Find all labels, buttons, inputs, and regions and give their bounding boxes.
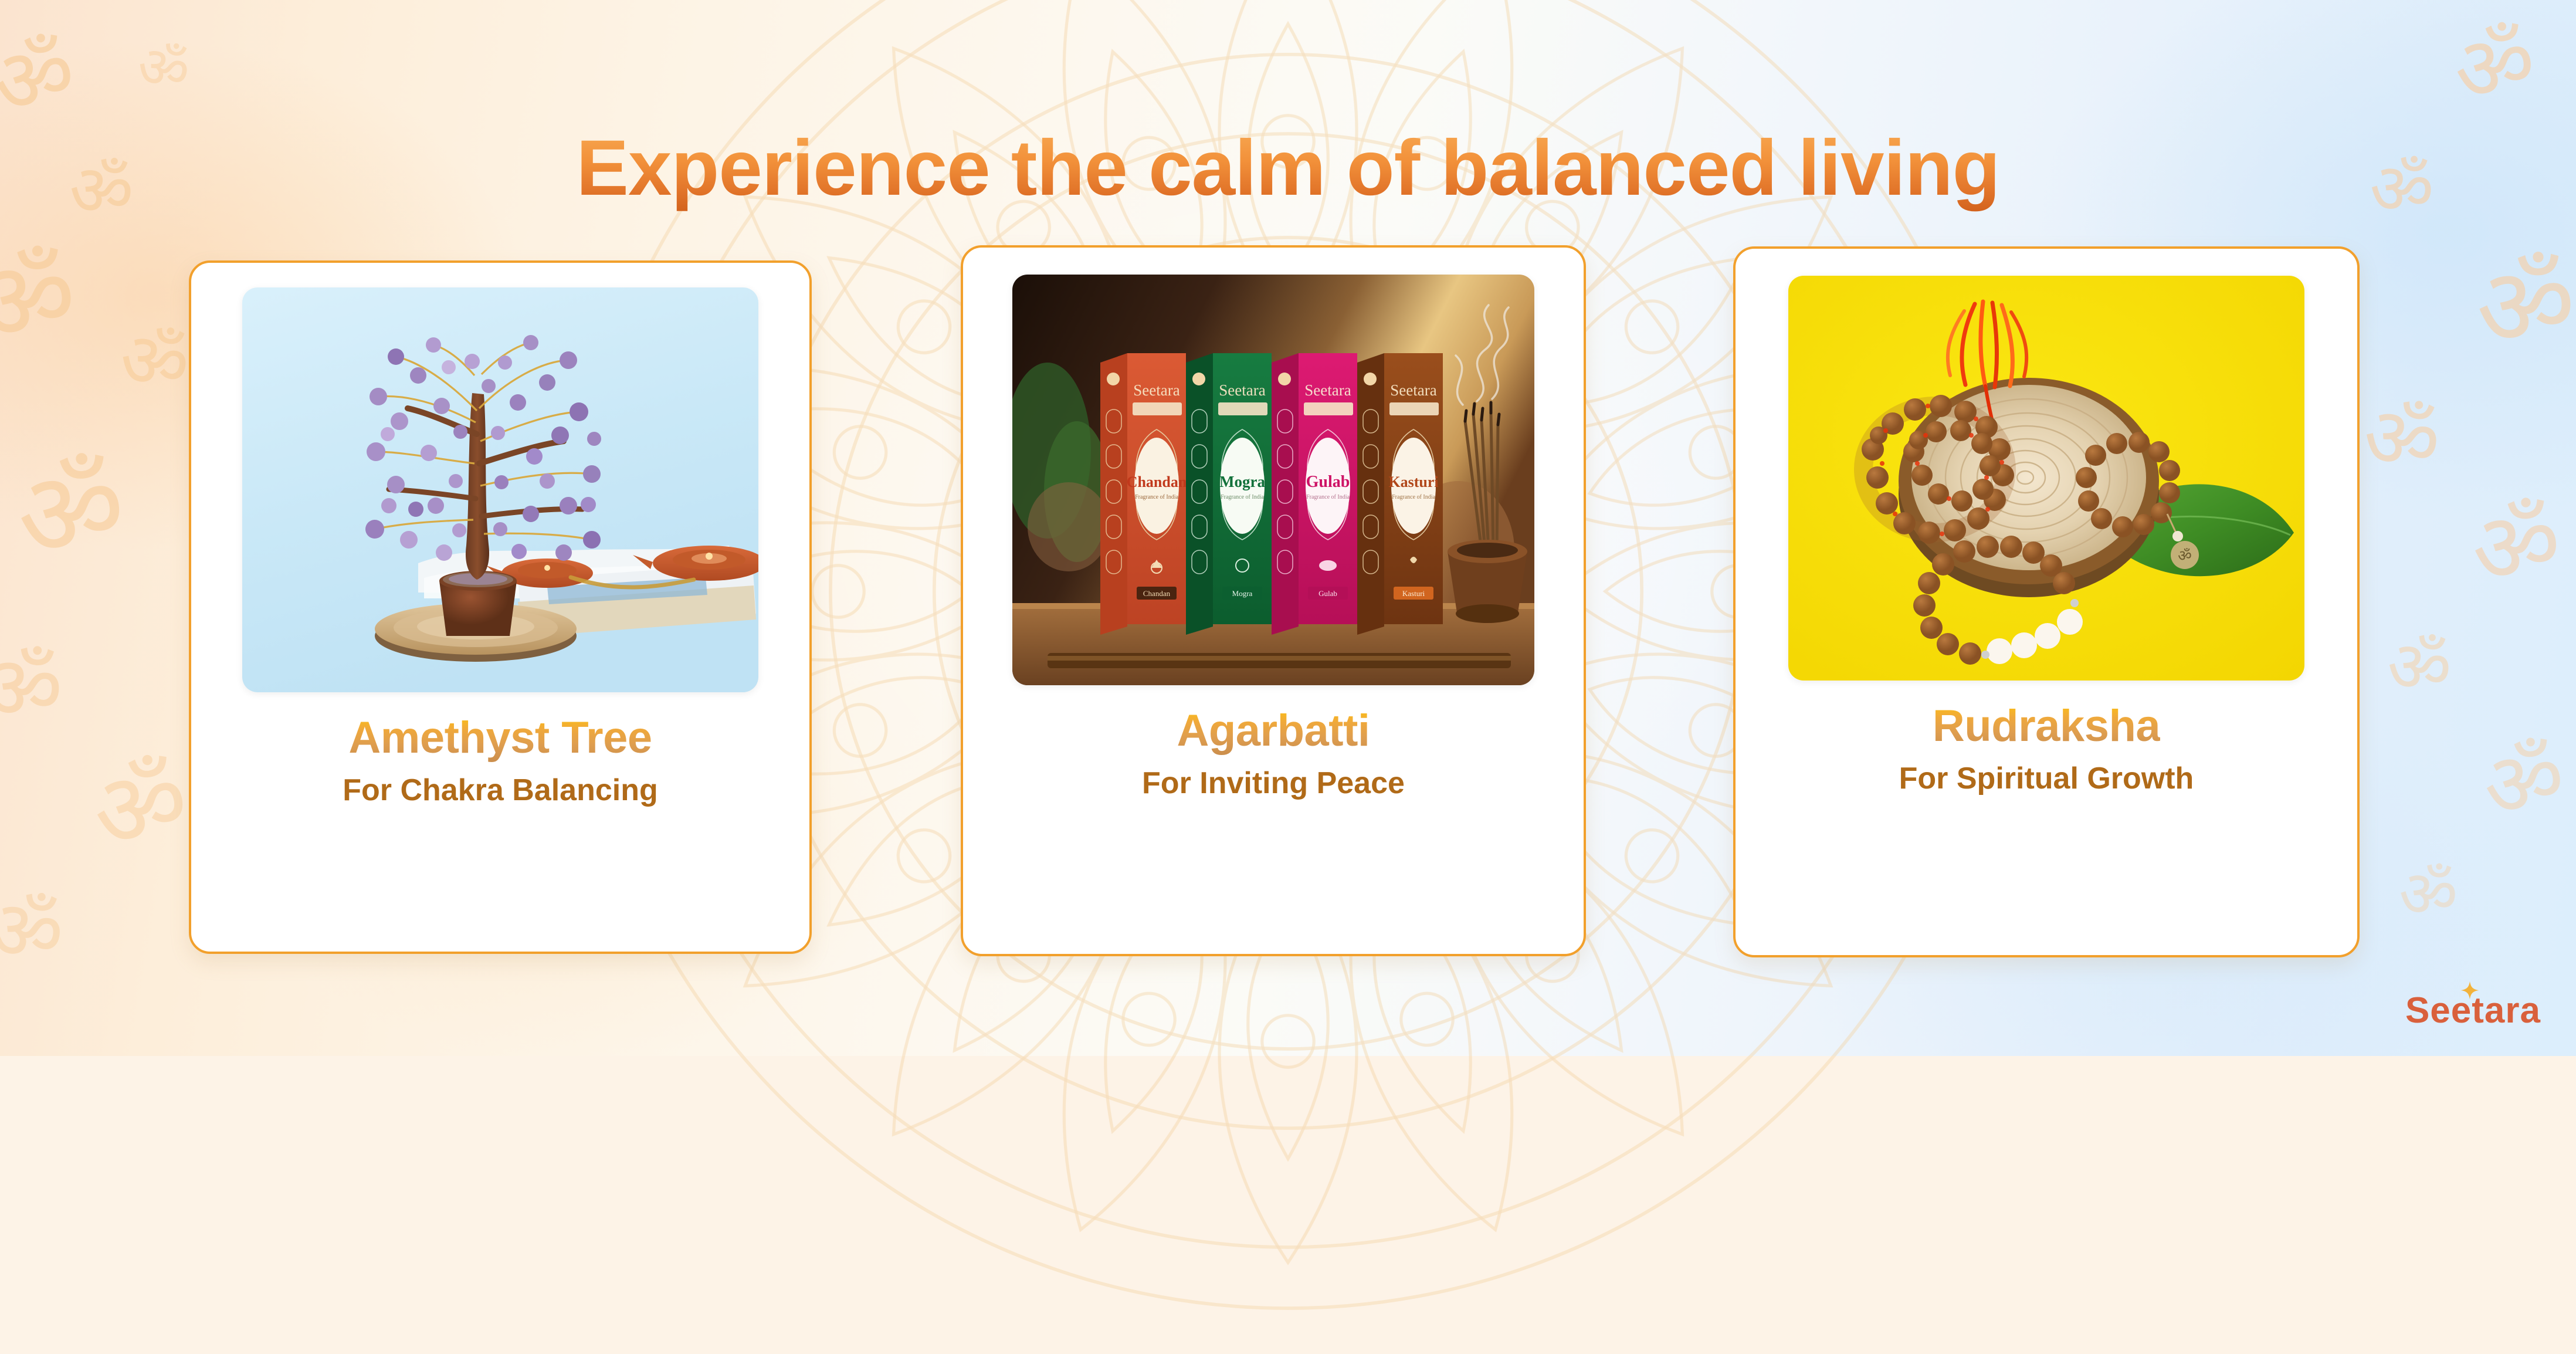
svg-text:Seetara: Seetara [1219,381,1265,399]
svg-text:Gulab: Gulab [1306,473,1350,491]
svg-text:Seetara: Seetara [1304,381,1351,399]
rudraksha-mala-photo: ॐ [1788,276,2304,681]
svg-text:Mogra: Mogra [1232,589,1253,598]
card-subtitle: For Inviting Peace [1142,767,1405,800]
product-card-amethyst-tree[interactable]: Amethyst Tree For Chakra Balancing [189,260,812,954]
card-subtitle: For Spiritual Growth [1899,762,2194,796]
card-title: Agarbatti [1177,708,1370,755]
svg-text:Chandan: Chandan [1143,589,1171,598]
product-card-list: Amethyst Tree For Chakra Balancing [0,0,2576,1056]
agarbatti-boxes-photo: Seetara Chandan Fragrance of India Chand… [1012,275,1534,685]
svg-text:Fragrance of India: Fragrance of India [1306,494,1350,500]
svg-text:Kasturi: Kasturi [1388,473,1438,490]
amethyst-tree-photo [242,287,758,692]
svg-text:Mogra: Mogra [1219,473,1265,490]
svg-text:Chandan: Chandan [1127,473,1187,490]
svg-text:ॐ: ॐ [2178,547,2192,565]
card-title: Amethyst Tree [348,715,652,762]
svg-text:Kasturi: Kasturi [1402,589,1425,598]
svg-text:Fragrance of India: Fragrance of India [1221,494,1264,500]
svg-text:Fragrance of India: Fragrance of India [1135,494,1178,500]
product-card-rudraksha[interactable]: ॐ [1733,246,2360,957]
product-card-agarbatti[interactable]: Seetara Chandan Fragrance of India Chand… [961,245,1586,956]
card-title: Rudraksha [1933,703,2160,750]
svg-text:Fragrance of India: Fragrance of India [1392,494,1435,500]
svg-text:Seetara: Seetara [1133,381,1179,399]
sparkle-star-icon [2460,980,2480,1000]
svg-text:Seetara: Seetara [1390,381,1436,399]
card-subtitle: For Chakra Balancing [343,774,657,807]
svg-text:Gulab: Gulab [1318,589,1337,598]
brand-logo[interactable]: Seetara [2405,990,2541,1031]
